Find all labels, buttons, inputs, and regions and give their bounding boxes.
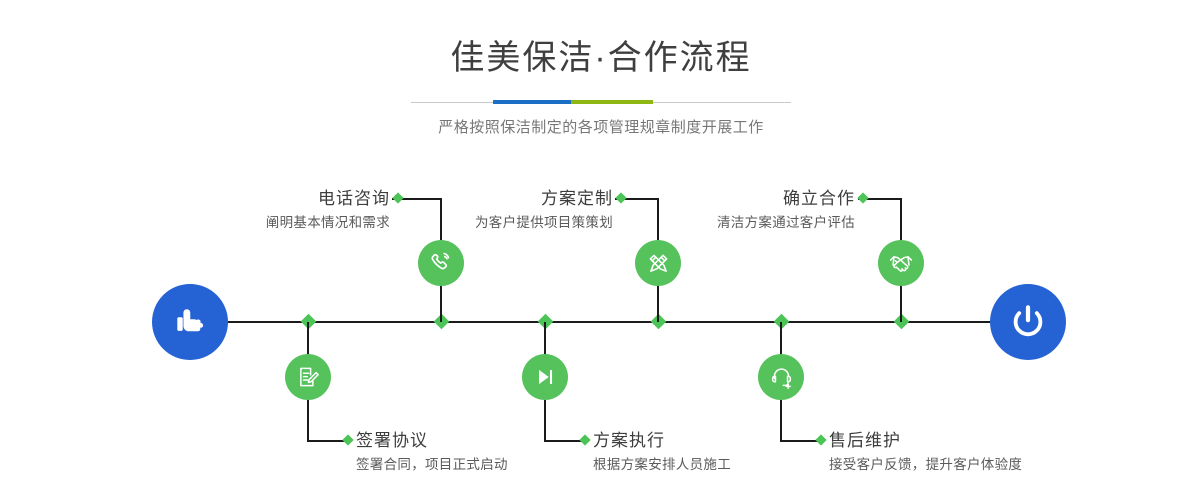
headset-support-icon (769, 365, 794, 390)
header: 佳美保洁·合作流程 严格按照保洁制定的各项管理规章制度开展工作 (0, 0, 1202, 137)
connector-stem (440, 284, 442, 322)
flow-end-node[interactable] (990, 284, 1066, 360)
step-label-1: 电话咨询 阐明基本情况和需求 (150, 188, 390, 233)
handshake-icon (888, 250, 914, 276)
connector-stem (307, 400, 309, 442)
step-icon-4[interactable] (522, 354, 568, 400)
step-title: 确立合作 (620, 188, 855, 210)
step-label-4: 方案执行 根据方案安排人员施工 (593, 430, 833, 475)
step-desc: 根据方案安排人员施工 (593, 455, 833, 475)
step-icon-3[interactable] (635, 240, 681, 286)
connector-stem (780, 322, 782, 356)
label-marker (342, 434, 353, 445)
divider-segment-green (571, 100, 653, 104)
step-title: 售后维护 (829, 430, 1089, 452)
connector-stem (657, 284, 659, 322)
flow-start-node[interactable] (152, 284, 228, 360)
connector-stem (900, 284, 902, 322)
step-desc: 为客户提供项目策策划 (378, 213, 613, 233)
step-icon-6[interactable] (758, 354, 804, 400)
step-icon-5[interactable] (878, 240, 924, 286)
step-desc: 清洁方案通过客户评估 (620, 213, 855, 233)
page-title: 佳美保洁·合作流程 (0, 38, 1202, 78)
connector-stem (544, 322, 546, 356)
phone-call-icon (428, 250, 454, 276)
step-icon-1[interactable] (418, 240, 464, 286)
play-execute-icon (533, 365, 557, 389)
connector-stem (544, 400, 546, 442)
pencil-ruler-icon (646, 251, 671, 276)
step-desc: 阐明基本情况和需求 (150, 213, 390, 233)
step-label-6: 售后维护 接受客户反馈，提升客户体验度 (829, 430, 1089, 475)
document-pencil-icon (296, 365, 320, 389)
step-icon-2[interactable] (285, 354, 331, 400)
page-subtitle: 严格按照保洁制定的各项管理规章制度开展工作 (0, 116, 1202, 137)
infographic-canvas: 佳美保洁·合作流程 严格按照保洁制定的各项管理规章制度开展工作 (0, 0, 1202, 502)
power-icon (1006, 300, 1050, 344)
step-label-5: 确立合作 清洁方案通过客户评估 (620, 188, 855, 233)
pointing-hand-icon (169, 301, 211, 343)
connector-stem (780, 400, 782, 442)
step-desc: 接受客户反馈，提升客户体验度 (829, 455, 1089, 475)
step-title: 方案定制 (378, 188, 613, 210)
step-title: 电话咨询 (150, 188, 390, 210)
step-label-3: 方案定制 为客户提供项目策策划 (378, 188, 613, 233)
label-marker (857, 192, 868, 203)
connector-stem (900, 198, 902, 240)
divider-segment-blue (493, 100, 571, 104)
title-divider (411, 100, 791, 104)
step-label-2: 签署协议 签署合同，项目正式启动 (356, 430, 596, 475)
connector-stem (307, 322, 309, 356)
step-desc: 签署合同，项目正式启动 (356, 455, 596, 475)
